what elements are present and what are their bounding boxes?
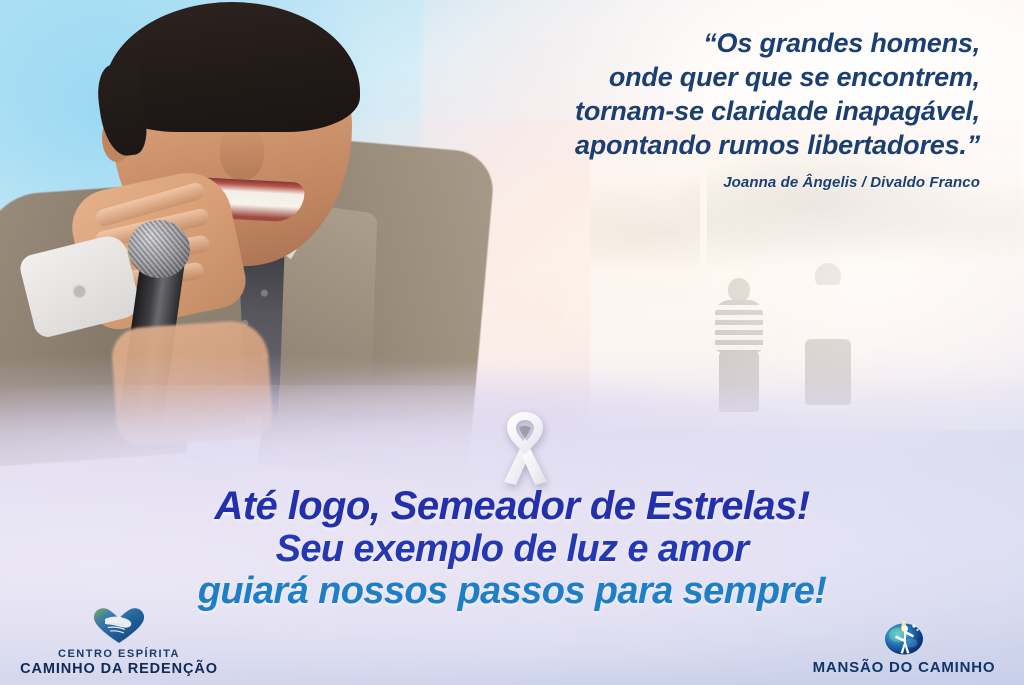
logo-right-line-1: MANSÃO DO CAMINHO [813, 660, 996, 677]
quote-block: “Os grandes homens, onde quer que se enc… [420, 26, 980, 191]
quote-line-1: “Os grandes homens, [420, 26, 980, 60]
mourning-ribbon-icon [492, 408, 558, 486]
globe-with-figure-and-flame-icon [880, 612, 928, 658]
headline-block: Até logo, Semeador de Estrelas! Seu exem… [0, 484, 1024, 612]
cuff-button [74, 286, 85, 297]
logo-right-text: MANSÃO DO CAMINHO [813, 660, 996, 677]
quote-line-2: onde quer que se encontrem, [420, 60, 980, 94]
quote-line-4: apontando rumos libertadores.” [420, 128, 980, 162]
heart-with-hand-icon [91, 605, 147, 645]
quote-line-3: tornam-se claridade inapagável, [420, 94, 980, 128]
headline-line-1: Até logo, Semeador de Estrelas! [0, 484, 1024, 528]
nose [220, 126, 264, 180]
logo-centro-espirita[interactable]: CENTRO ESPÍRITA CAMINHO DA REDENÇÃO [14, 605, 224, 677]
logo-mansao-do-caminho[interactable]: MANSÃO DO CAMINHO [794, 612, 1014, 677]
logo-left-line-2: CAMINHO DA REDENÇÃO [20, 661, 218, 677]
headline-line-2: Seu exemplo de luz e amor [0, 528, 1024, 570]
logo-left-text: CENTRO ESPÍRITA CAMINHO DA REDENÇÃO [20, 648, 218, 677]
quote-attribution: Joanna de Ângelis / Divaldo Franco [420, 174, 980, 191]
logo-left-line-1: CENTRO ESPÍRITA [20, 648, 218, 660]
memorial-poster: “Os grandes homens, onde quer que se enc… [0, 0, 1024, 685]
